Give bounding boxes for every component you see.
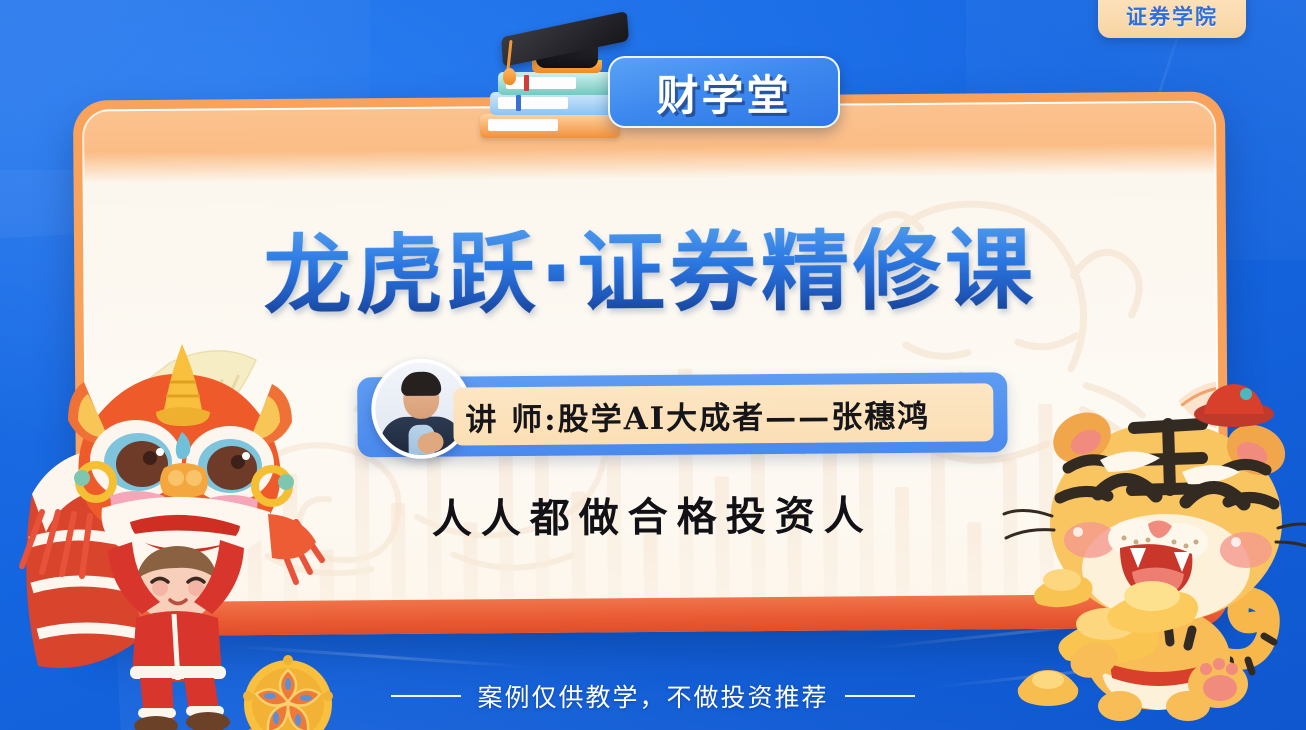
institute-badge[interactable]: 证券学院 — [1098, 0, 1246, 38]
disclaimer-rule-left — [391, 695, 461, 697]
institute-badge-label: 证券学院 — [1126, 1, 1218, 31]
poster-canvas: 龙虎跃·证券精修课 讲 师:股学AI大成者——张穗鸿 — [0, 0, 1306, 730]
brand-name-badge[interactable]: 财学堂 — [608, 56, 840, 128]
instructor-name-label: 讲 师:股学AI大成者——张穗鸿 — [453, 390, 930, 439]
instructor-plate: 讲 师:股学AI大成者——张穗鸿 — [453, 383, 993, 445]
instructor-bar: 讲 师:股学AI大成者——张穗鸿 — [357, 372, 1008, 457]
gold-ingot-icon — [1012, 662, 1084, 708]
disclaimer-rule-right — [845, 695, 915, 697]
disclaimer-label: 案例仅供教学，不做投资推荐 — [477, 678, 828, 714]
brand-logo[interactable]: 财学堂 — [480, 18, 840, 140]
embroidered-ball-icon — [222, 650, 342, 730]
brand-name-label: 财学堂 — [656, 62, 791, 123]
page-title: 龙虎跃·证券精修课 — [85, 225, 1216, 322]
